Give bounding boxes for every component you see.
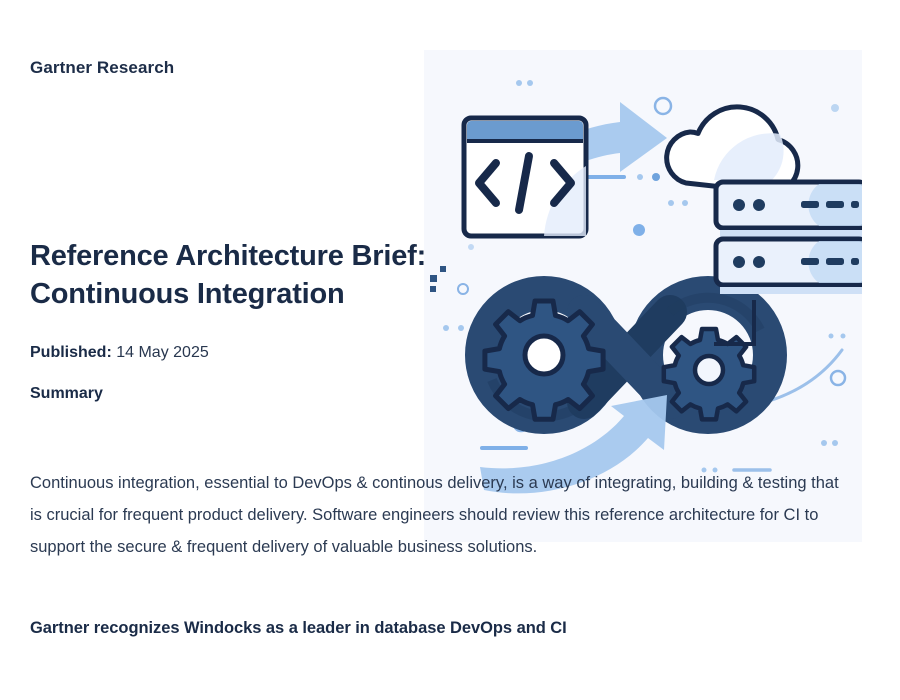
server-slot	[851, 258, 859, 265]
code-window-titlebar	[467, 121, 583, 141]
page-title-line-1: Reference Architecture Brief:	[30, 238, 430, 275]
server-gap	[720, 230, 862, 237]
decor-dot	[841, 334, 846, 339]
published-label: Published:	[30, 344, 112, 361]
decor-dot	[516, 80, 522, 86]
summary-body: Continuous integration, essential to Dev…	[30, 467, 852, 564]
server-slot	[826, 201, 844, 208]
gear-hub	[525, 336, 563, 374]
decor-dot	[637, 174, 643, 180]
decor-dot	[443, 325, 449, 331]
decor-dot	[668, 200, 674, 206]
server-unit	[716, 182, 862, 228]
decor-dot	[633, 224, 645, 236]
decor-dot	[831, 104, 839, 112]
server-led	[733, 199, 745, 211]
server-slot	[801, 258, 819, 265]
code-window-icon	[464, 118, 586, 236]
server-slot	[851, 201, 859, 208]
decor-square	[440, 266, 446, 272]
decor-dot	[458, 325, 464, 331]
published-row: Published: 14 May 2025	[30, 344, 209, 362]
server-rack-icon	[716, 182, 862, 294]
decor-dot	[832, 440, 838, 446]
decor-dot	[652, 173, 660, 181]
server-led	[753, 199, 765, 211]
server-unit	[716, 239, 862, 285]
server-slot	[826, 258, 844, 265]
decor-square	[430, 286, 436, 292]
research-eyebrow: Gartner Research	[30, 58, 174, 78]
decor-square	[430, 275, 437, 282]
decor-dot	[682, 200, 688, 206]
server-slot	[801, 201, 819, 208]
server-led	[733, 256, 745, 268]
decor-dot	[821, 440, 827, 446]
footer-note: Gartner recognizes Windocks as a leader …	[30, 619, 567, 638]
server-led	[753, 256, 765, 268]
decor-dot	[829, 334, 834, 339]
published-date: 14 May 2025	[116, 344, 209, 361]
gear-hub	[695, 356, 723, 384]
decor-dot	[468, 244, 474, 250]
decor-dot	[527, 80, 533, 86]
document-page: Gartner Research Reference Architecture …	[0, 0, 900, 700]
server-base	[720, 287, 862, 294]
summary-heading: Summary	[30, 385, 103, 403]
page-title: Reference Architecture Brief: Continuous…	[30, 238, 430, 312]
large-gear-icon	[485, 301, 603, 419]
page-title-line-2: Continuous Integration	[30, 276, 430, 313]
